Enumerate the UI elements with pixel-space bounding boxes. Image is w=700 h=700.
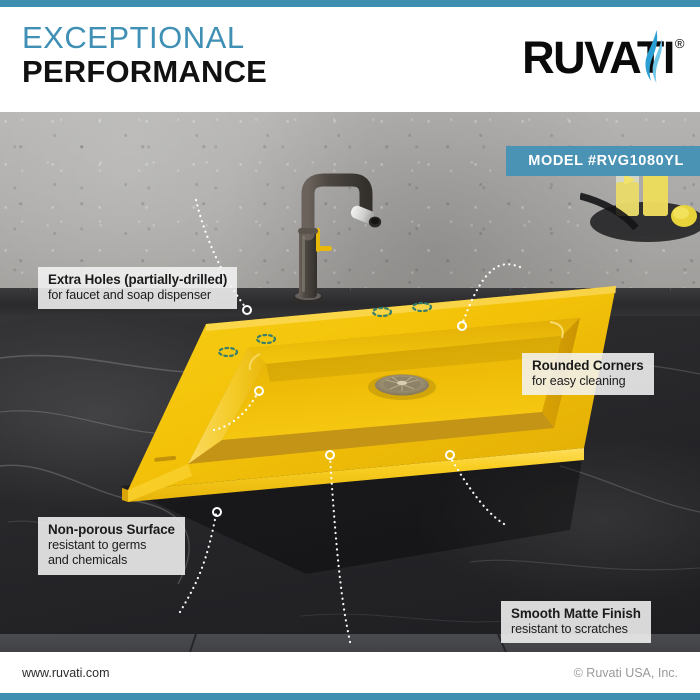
callout-subtitle: resistant to scratches [511,622,641,638]
headline-line-2: PERFORMANCE [22,55,267,89]
callout-title: Rounded Corners [532,358,644,374]
callout-smooth-matte-finish: Smooth Matte Finish resistant to scratch… [501,601,651,643]
kitchen-sink [110,262,630,592]
callout-subtitle: for easy cleaning [532,374,644,390]
logo-wordmark: RUVATI® [522,35,682,80]
callout-subtitle-line2: and chemicals [48,553,175,569]
callout-title: Extra Holes (partially-drilled) [48,272,227,288]
kitchen-faucet [280,170,390,305]
top-accent-bar [0,0,700,7]
product-photo: MODEL #RVG1080YL Extra Holes (partially-… [0,112,700,652]
header: EXCEPTIONAL PERFORMANCE RUVATI® [0,7,700,112]
callout-extra-holes: Extra Holes (partially-drilled) for fauc… [38,267,237,309]
registered-trademark-icon: ® [675,36,683,51]
callout-title: Non-porous Surface [48,522,175,538]
footer: www.ruvati.com © Ruvati USA, Inc. [0,652,700,693]
callout-subtitle: resistant to germs [48,538,175,554]
copyright-notice: © Ruvati USA, Inc. [574,666,678,680]
headline-line-1: EXCEPTIONAL [22,21,267,55]
logo-word-text: RUVATI [522,32,674,83]
website-url[interactable]: www.ruvati.com [22,666,110,680]
headline-block: EXCEPTIONAL PERFORMANCE [22,21,267,89]
bottom-accent-bar [0,693,700,700]
callout-title: Smooth Matte Finish [511,606,641,622]
callout-non-porous-surface: Non-porous Surface resistant to germs an… [38,517,185,575]
model-number-badge: MODEL #RVG1080YL [506,146,700,176]
product-feature-sheet: EXCEPTIONAL PERFORMANCE RUVATI® [0,0,700,700]
callout-rounded-corners: Rounded Corners for easy cleaning [522,353,654,395]
ruvati-logo: RUVATI® [522,32,682,80]
callout-subtitle: for faucet and soap dispenser [48,288,227,304]
